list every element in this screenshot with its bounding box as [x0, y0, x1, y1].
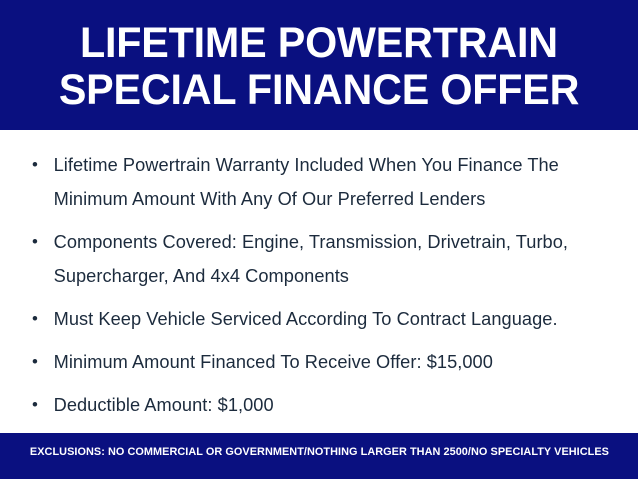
offer-bullet-list: • Lifetime Powertrain Warranty Included …	[28, 148, 610, 465]
list-item-text: Minimum Amount Financed To Receive Offer…	[54, 345, 602, 379]
bullet-point-icon: •	[32, 225, 46, 259]
list-item: • Must Keep Vehicle Serviced According T…	[28, 302, 601, 336]
bullet-point-icon: •	[32, 302, 46, 336]
bullet-point-icon: •	[32, 148, 46, 182]
promotional-slide: LIFETIME POWERTRAIN SPECIAL FINANCE OFFE…	[0, 0, 638, 479]
list-item-text: Lifetime Powertrain Warranty Included Wh…	[54, 148, 602, 216]
offer-details-section: • Lifetime Powertrain Warranty Included …	[0, 130, 638, 433]
list-item: • Lifetime Powertrain Warranty Included …	[28, 148, 601, 216]
header-banner: LIFETIME POWERTRAIN SPECIAL FINANCE OFFE…	[0, 0, 638, 130]
footer-banner: EXCLUSIONS: NO COMMERCIAL OR GOVERNMENT/…	[0, 433, 638, 479]
list-item: • Components Covered: Engine, Transmissi…	[28, 225, 601, 293]
list-item-text: Components Covered: Engine, Transmission…	[54, 225, 602, 293]
slide-title-line-2: SPECIAL FINANCE OFFER	[59, 67, 579, 114]
list-item: • Deductible Amount: $1,000	[28, 388, 601, 422]
slide-title-line-1: LIFETIME POWERTRAIN	[80, 20, 558, 67]
bullet-point-icon: •	[32, 388, 46, 422]
list-item-text: Must Keep Vehicle Serviced According To …	[54, 302, 602, 336]
list-item-text: Deductible Amount: $1,000	[54, 388, 602, 422]
list-item: • Minimum Amount Financed To Receive Off…	[28, 345, 601, 379]
bullet-point-icon: •	[32, 345, 46, 379]
exclusions-disclaimer: EXCLUSIONS: NO COMMERCIAL OR GOVERNMENT/…	[29, 445, 608, 459]
